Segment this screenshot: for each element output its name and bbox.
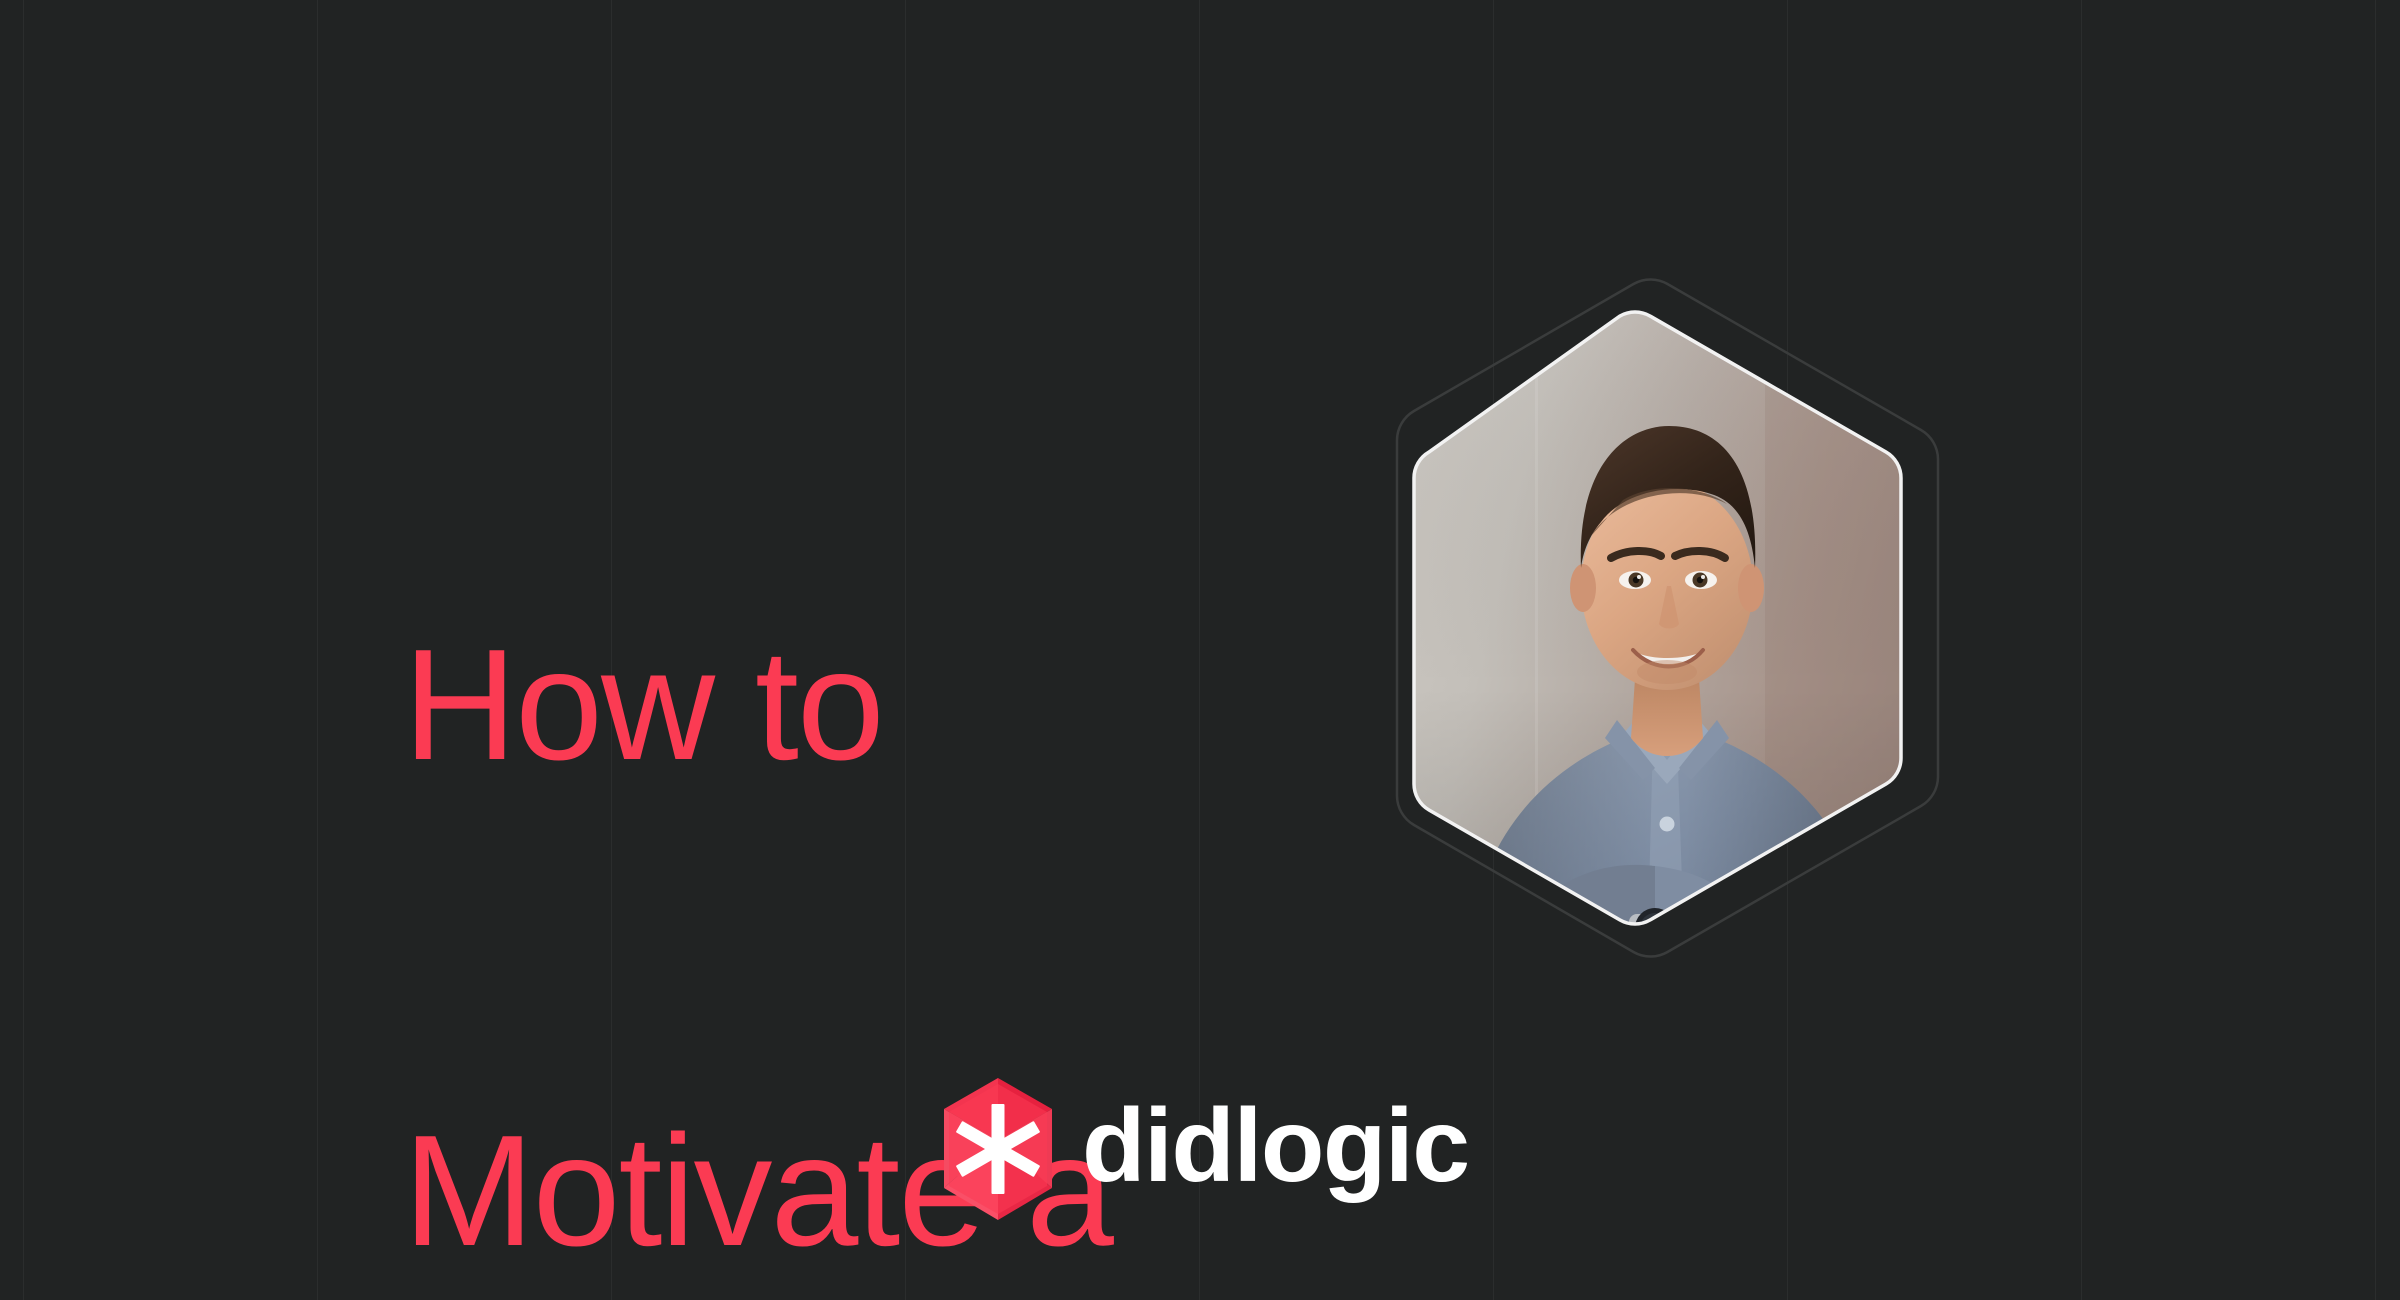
- didlogic-hexagon-asterisk-icon: [944, 1078, 1052, 1220]
- didlogic-logo[interactable]: didlogic: [944, 1078, 1469, 1220]
- grid-line: [2375, 0, 2376, 1300]
- marketing-banner: How to Motivate a Sales Team (Without Bu…: [0, 0, 2400, 1300]
- portrait-photo: [1355, 268, 1980, 968]
- didlogic-wordmark: didlogic: [1082, 1094, 1469, 1204]
- grid-line: [317, 0, 318, 1300]
- portrait-frame: [1355, 268, 1980, 968]
- grid-line: [23, 0, 24, 1300]
- grid-line: [2081, 0, 2082, 1300]
- headline-line-1: How to: [403, 624, 1206, 786]
